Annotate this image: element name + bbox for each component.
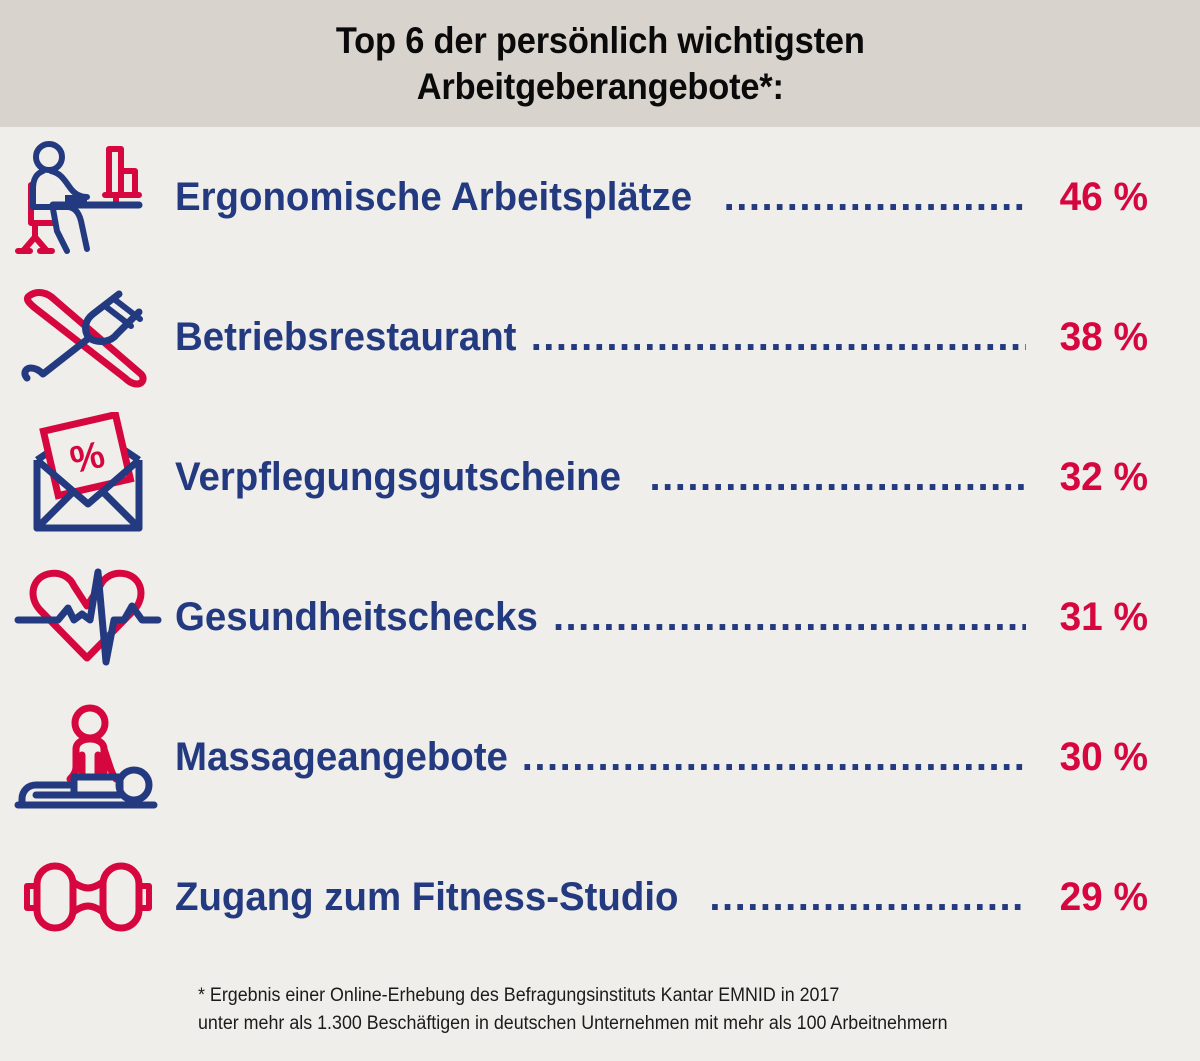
row-text: Massageangebote 30 % [175, 737, 1200, 777]
list-item: Zugang zum Fitness-Studio 29 % [0, 827, 1200, 967]
list-item-label: Ergonomische Arbeitsplätze [175, 177, 692, 217]
row-text: Ergonomische Arbeitsplätze 46 % [175, 177, 1200, 217]
row-text: Zugang zum Fitness-Studio 29 % [175, 877, 1200, 917]
cutlery-icon [0, 270, 175, 405]
list-item-label: Gesundheitschecks [175, 597, 538, 637]
list-item-label: Betriebsrestaurant [175, 317, 516, 357]
list-item-label: Verpflegungsgutscheine [175, 457, 621, 497]
row-text: Gesundheitschecks 31 % [175, 597, 1200, 637]
list-item: Betriebsrestaurant 38 % [0, 267, 1200, 407]
list-item-value: 29 % [1034, 877, 1148, 917]
row-text: Betriebsrestaurant 38 % [175, 317, 1200, 357]
header-band: Top 6 der persönlich wichtigsten Arbeitg… [0, 0, 1200, 127]
dot-leader [531, 317, 1026, 357]
list-item-value: 46 % [1034, 177, 1148, 217]
list-item: Gesundheitschecks 31 % [0, 547, 1200, 687]
footnote: * Ergebnis einer Online-Erhebung des Bef… [198, 982, 948, 1037]
list-item-label: Zugang zum Fitness-Studio [175, 877, 678, 917]
ranking-list: Ergonomische Arbeitsplätze 46 % Betriebs… [0, 127, 1200, 967]
list-item: % Verpflegungsgutscheine 32 % [0, 407, 1200, 547]
list-item-value: 30 % [1034, 737, 1148, 777]
dot-leader [709, 877, 1026, 917]
dot-leader [522, 737, 1026, 777]
dot-leader [553, 597, 1026, 637]
dot-leader [724, 177, 1026, 217]
dot-leader [650, 457, 1026, 497]
list-item-value: 38 % [1034, 317, 1148, 357]
voucher-envelope-icon: % [0, 410, 175, 545]
list-item-value: 32 % [1034, 457, 1148, 497]
row-text: Verpflegungsgutscheine 32 % [175, 457, 1200, 497]
list-item: Ergonomische Arbeitsplätze 46 % [0, 127, 1200, 267]
list-item-label: Massageangebote [175, 737, 508, 777]
page-title: Top 6 der persönlich wichtigsten Arbeitg… [298, 18, 901, 108]
list-item: Massageangebote 30 % [0, 687, 1200, 827]
dumbbell-icon [0, 830, 175, 965]
massage-table-icon [0, 690, 175, 825]
heart-pulse-icon [0, 550, 175, 685]
list-item-value: 31 % [1034, 597, 1148, 637]
desk-worker-icon [0, 130, 175, 265]
